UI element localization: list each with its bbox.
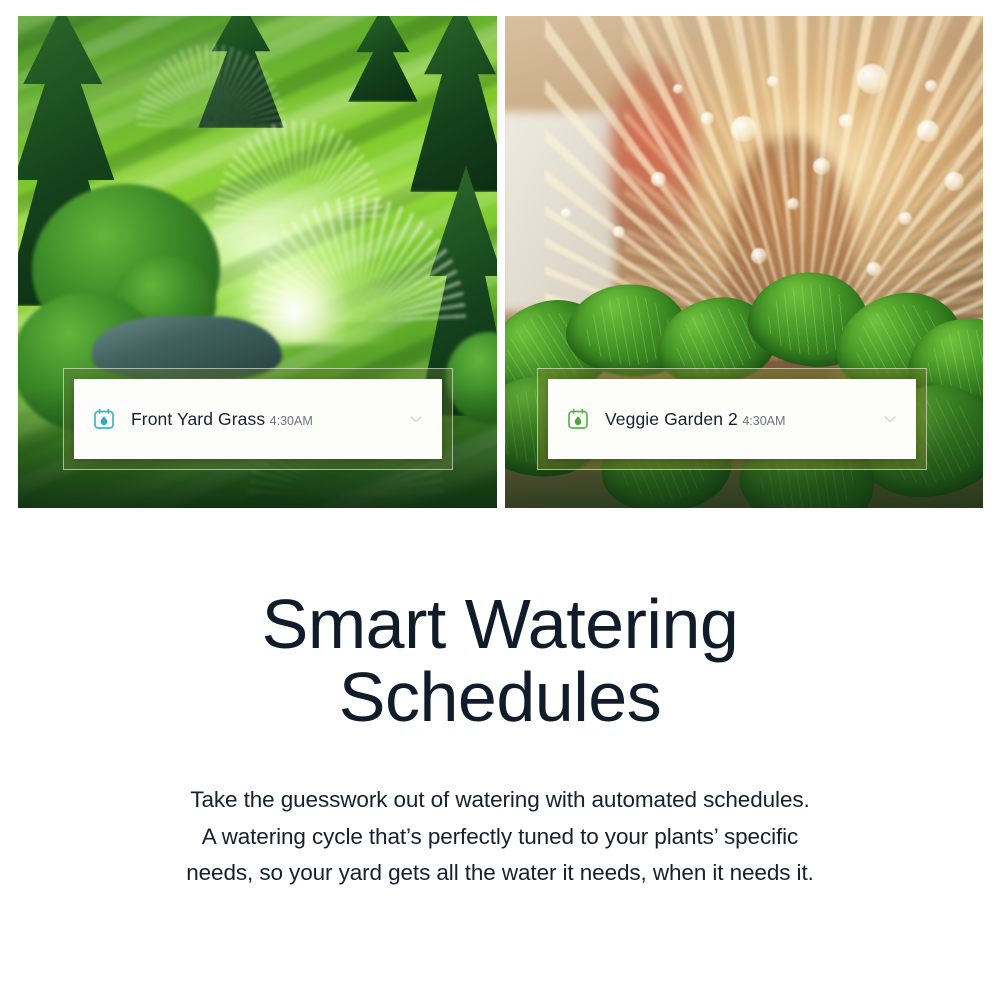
bokeh-droplet bbox=[787, 198, 799, 210]
chevron-down-icon[interactable] bbox=[406, 409, 426, 429]
bokeh-droplet bbox=[767, 76, 778, 87]
calendar-droplet-icon bbox=[92, 407, 116, 431]
schedule-name: Veggie Garden 2 bbox=[605, 409, 738, 429]
lawn-sprinkler-photo: Front Yard Grass 4:30AM bbox=[18, 16, 497, 508]
photo-row: Front Yard Grass 4:30AM bbox=[18, 16, 983, 508]
bokeh-droplet bbox=[839, 114, 853, 128]
bokeh-droplet bbox=[925, 80, 937, 92]
bokeh-droplet bbox=[899, 212, 912, 225]
body-line-3: needs, so your yard gets all the water i… bbox=[52, 855, 948, 892]
page-title: Smart Watering Schedules bbox=[0, 588, 1000, 734]
bokeh-droplet bbox=[613, 226, 625, 238]
bokeh-droplet bbox=[945, 172, 964, 191]
body-paragraph: Take the guesswork out of watering with … bbox=[52, 782, 948, 892]
body-line-2: A watering cycle that’s perfectly tuned … bbox=[52, 819, 948, 856]
schedule-card-frame: Veggie Garden 2 4:30AM bbox=[537, 368, 927, 470]
bokeh-droplet bbox=[917, 120, 939, 142]
body-line-1: Take the guesswork out of watering with … bbox=[52, 782, 948, 819]
bokeh-droplet bbox=[561, 208, 571, 218]
headline-line-1: Smart Watering bbox=[262, 585, 739, 663]
bokeh-droplet bbox=[651, 172, 666, 187]
veggie-garden-photo: Veggie Garden 2 4:30AM bbox=[505, 16, 983, 508]
schedule-text-group: Veggie Garden 2 4:30AM bbox=[605, 409, 880, 430]
bokeh-droplet bbox=[673, 84, 683, 94]
marketing-feature-panel: Front Yard Grass 4:30AM bbox=[0, 0, 1000, 1000]
schedule-card-frame: Front Yard Grass 4:30AM bbox=[63, 368, 453, 470]
chevron-down-icon[interactable] bbox=[880, 409, 900, 429]
bokeh-droplet bbox=[857, 64, 887, 94]
calendar-droplet-icon bbox=[566, 407, 590, 431]
schedule-text-group: Front Yard Grass 4:30AM bbox=[131, 409, 406, 430]
bokeh-droplet bbox=[813, 158, 830, 175]
schedule-time: 4:30AM bbox=[742, 414, 785, 428]
bokeh-droplet bbox=[731, 116, 757, 142]
bokeh-droplet bbox=[701, 112, 714, 125]
schedule-name: Front Yard Grass bbox=[131, 409, 265, 429]
schedule-time: 4:30AM bbox=[270, 414, 313, 428]
headline-line-2: Schedules bbox=[0, 661, 1000, 734]
schedule-card[interactable]: Front Yard Grass 4:30AM bbox=[74, 379, 442, 459]
schedule-card[interactable]: Veggie Garden 2 4:30AM bbox=[548, 379, 916, 459]
